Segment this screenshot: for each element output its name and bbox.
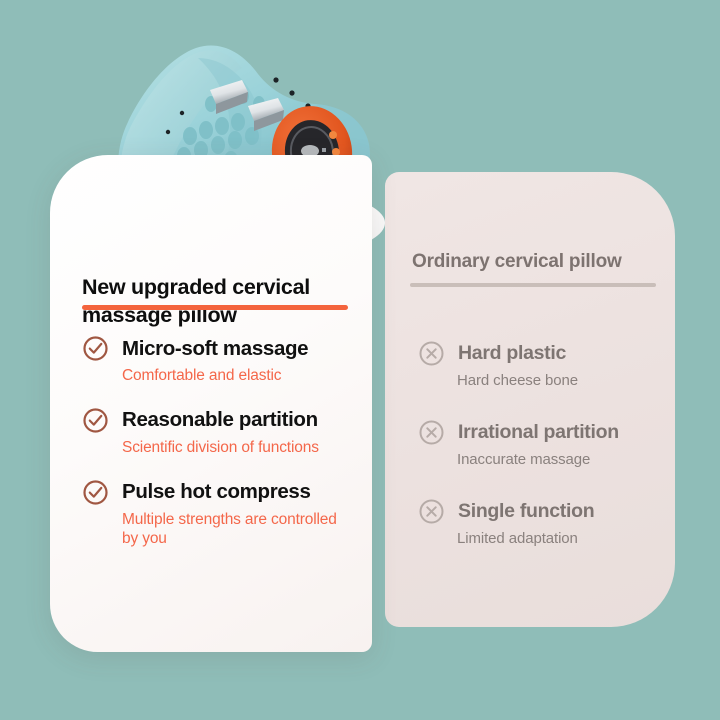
- feature-row: Irrational partition Inaccurate massage: [418, 419, 668, 469]
- check-circle-icon: [82, 479, 109, 506]
- feature-title: Single function: [458, 500, 594, 523]
- accent-underline: [82, 305, 348, 310]
- new-pillow-feature-list: Micro-soft massage Comfortable and elast…: [82, 335, 372, 549]
- check-circle-icon: [82, 335, 109, 362]
- comparison-infographic: New upgraded cervical massage pillow Mic…: [0, 0, 720, 720]
- new-pillow-card-title: New upgraded cervical massage pillow: [82, 273, 352, 330]
- ordinary-pillow-card-title: Ordinary cervical pillow: [412, 251, 622, 273]
- feature-row: Single function Limited adaptation: [418, 498, 668, 548]
- feature-row: Pulse hot compress Multiple strengths ar…: [82, 479, 372, 550]
- feature-title: Reasonable partition: [122, 408, 318, 432]
- feature-subtitle: Hard cheese bone: [457, 371, 668, 390]
- ordinary-pillow-feature-list: Hard plastic Hard cheese bone Irrational…: [418, 340, 668, 549]
- feature-subtitle: Inaccurate massage: [457, 450, 668, 469]
- feature-subtitle: Scientific division of functions: [122, 438, 337, 458]
- feature-title: Irrational partition: [458, 421, 619, 444]
- feature-title: Pulse hot compress: [122, 480, 311, 504]
- feature-row: Micro-soft massage Comfortable and elast…: [82, 335, 372, 386]
- feature-subtitle: Limited adaptation: [457, 529, 668, 548]
- feature-row: Reasonable partition Scientific division…: [82, 407, 372, 458]
- feature-row: Hard plastic Hard cheese bone: [418, 340, 668, 390]
- feature-subtitle: Multiple strengths are controlled by you: [122, 510, 337, 550]
- cross-circle-icon: [418, 498, 445, 525]
- feature-title: Hard plastic: [458, 342, 566, 365]
- cross-circle-icon: [418, 419, 445, 446]
- feature-subtitle: Comfortable and elastic: [122, 366, 337, 386]
- gray-divider: [410, 283, 656, 287]
- feature-title: Micro-soft massage: [122, 337, 308, 361]
- check-circle-icon: [82, 407, 109, 434]
- cross-circle-icon: [418, 340, 445, 367]
